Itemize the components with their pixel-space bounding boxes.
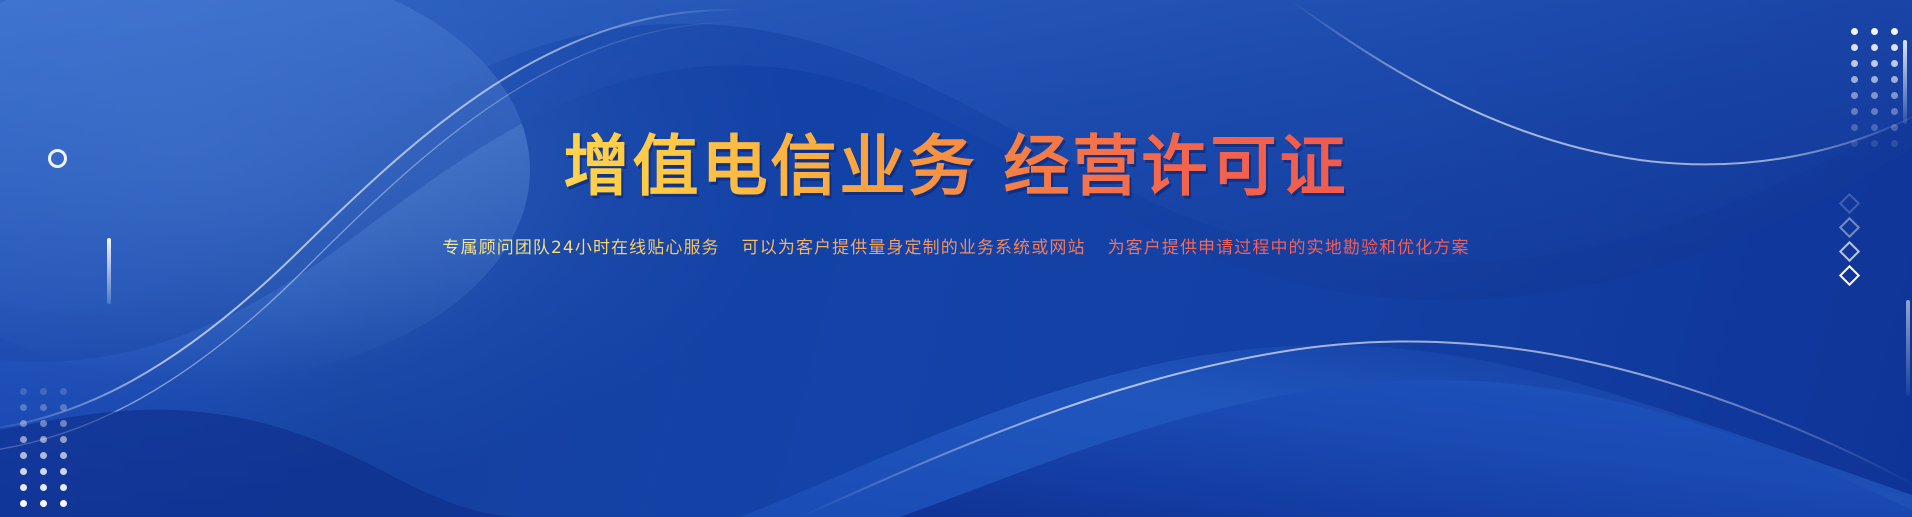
subtitle-item-2: 可以为客户提供量身定制的业务系统或网站 bbox=[742, 238, 1086, 258]
title-segment-1: 增值电信业务 bbox=[564, 128, 978, 205]
title-segment-2: 经营许可证 bbox=[1004, 128, 1349, 205]
subtitle-item-3: 为客户提供申请过程中的实地勘验和优化方案 bbox=[1108, 238, 1470, 258]
banner-subtitle: 专属顾问团队24小时在线贴心服务可以为客户提供量身定制的业务系统或网站为客户提供… bbox=[442, 237, 1469, 261]
dot-grid-icon bbox=[1851, 28, 1898, 147]
promo-banner: 增值电信业务经营许可证 专属顾问团队24小时在线贴心服务可以为客户提供量身定制的… bbox=[0, 0, 1912, 517]
vertical-bar-icon bbox=[1903, 40, 1907, 124]
banner-title-row: 增值电信业务经营许可证 bbox=[0, 132, 1912, 201]
subtitle-item-1: 专属顾问团队24小时在线贴心服务 bbox=[442, 238, 719, 258]
dot-grid-icon bbox=[20, 388, 67, 507]
banner-subtitle-row: 专属顾问团队24小时在线贴心服务可以为客户提供量身定制的业务系统或网站为客户提供… bbox=[0, 237, 1912, 261]
page-title: 增值电信业务经营许可证 bbox=[564, 132, 1349, 201]
vertical-bar-icon bbox=[1906, 300, 1910, 396]
